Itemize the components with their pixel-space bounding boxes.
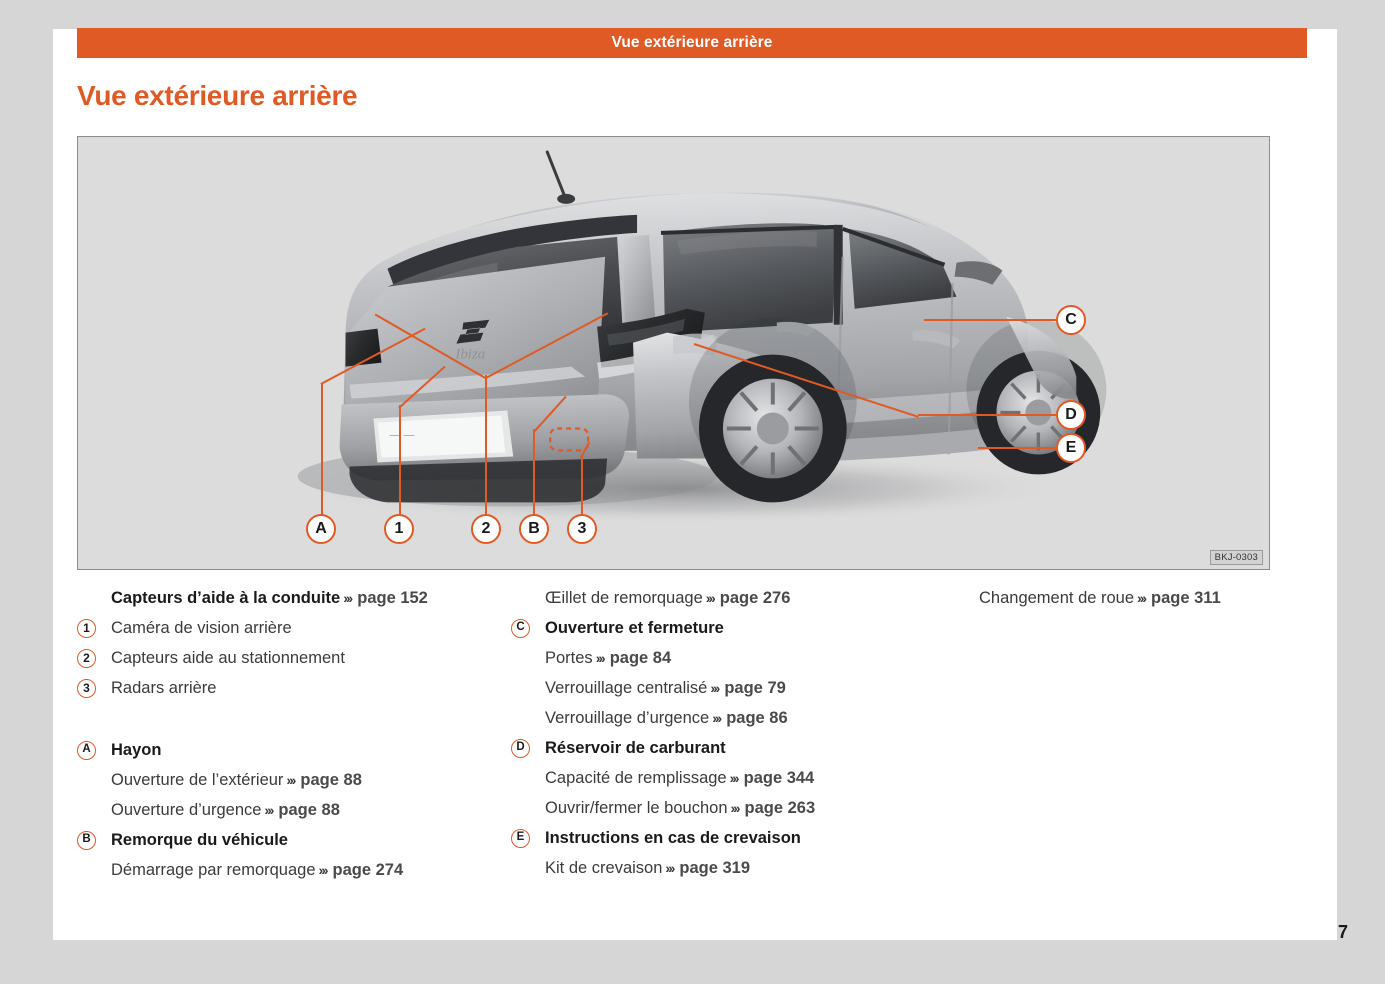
legend-entry-text: Changement de roue›››page 311 <box>979 583 1221 613</box>
legend-marker <box>511 703 545 733</box>
page-folio: 7 <box>1338 922 1348 943</box>
legend-marker <box>945 583 979 613</box>
legend-marker: E <box>511 823 545 853</box>
legend-spacer <box>77 703 511 735</box>
chevron-right-icon: ››› <box>340 590 357 606</box>
legend-badge-2: 2 <box>77 649 96 668</box>
legend-entry-text: Portes›››page 84 <box>545 643 671 673</box>
chevron-right-icon: ››› <box>703 590 720 606</box>
legend-marker: C <box>511 613 545 643</box>
legend-entry-label: Remorque du véhicule <box>111 831 288 849</box>
page-reference-link[interactable]: page 276 <box>720 589 791 607</box>
legend-row: 3Radars arrière <box>77 673 511 703</box>
legend-row: Ouvrir/fermer le bouchon›››page 263 <box>511 793 945 823</box>
legend-entry-text: Capteurs aide au stationnement <box>111 643 345 673</box>
legend-row: AHayon <box>77 735 511 765</box>
legend-entry-text: Verrouillage d’urgence›››page 86 <box>545 703 788 733</box>
legend-row: EInstructions en cas de crevaison <box>511 823 945 853</box>
legend-entry-text: Ouverture de l’extérieur›››page 88 <box>111 765 362 795</box>
legend-entry-label: Ouverture de l’extérieur <box>111 771 283 789</box>
legend-entry-label: Kit de crevaison <box>545 859 662 877</box>
chevron-right-icon: ››› <box>707 680 724 696</box>
chevron-right-icon: ››› <box>727 770 744 786</box>
page-reference-link[interactable]: page 344 <box>744 769 815 787</box>
svg-text:— —: — — <box>389 429 414 441</box>
legend-entry-label: Changement de roue <box>979 589 1134 607</box>
chevron-right-icon: ››› <box>283 772 300 788</box>
legend-row: Capacité de remplissage›››page 344 <box>511 763 945 793</box>
legend-entry-text: Verrouillage centralisé›››page 79 <box>545 673 786 703</box>
legend-marker <box>511 673 545 703</box>
leader-line-1-vertical <box>399 405 401 529</box>
callout-d: D <box>1056 400 1086 430</box>
callout-a: A <box>306 514 336 544</box>
legend-entry-label: Hayon <box>111 741 161 759</box>
legend-entry-label: Capteurs aide au stationnement <box>111 649 345 667</box>
legend-column-2: Œillet de remorquage›››page 276COuvertur… <box>511 583 945 885</box>
legend-entry-text: Hayon <box>111 735 161 765</box>
legend-entry-text: Kit de crevaison›››page 319 <box>545 853 750 883</box>
page-reference-link[interactable]: page 86 <box>726 709 787 727</box>
running-header-bar: Vue extérieure arrière <box>77 28 1307 58</box>
legend-marker: A <box>77 735 111 765</box>
legend-badge-3: 3 <box>77 679 96 698</box>
legend-marker <box>511 793 545 823</box>
page-reference-link[interactable]: page 88 <box>278 801 339 819</box>
legend-row: Ouverture de l’extérieur›››page 88 <box>77 765 511 795</box>
page-reference-link[interactable]: page 274 <box>333 861 404 879</box>
legend-row: 2Capteurs aide au stationnement <box>77 643 511 673</box>
leader-line-d-horizontal <box>918 414 1071 416</box>
legend-badge-e: E <box>511 829 530 848</box>
legend-marker <box>511 643 545 673</box>
legend-column-1: Capteurs d’aide à la conduite›››page 152… <box>77 583 511 885</box>
legend-entry-text: Instructions en cas de crevaison <box>545 823 801 853</box>
legend-marker: D <box>511 733 545 763</box>
legend-row: Œillet de remorquage›››page 276 <box>511 583 945 613</box>
page-reference-link[interactable]: page 263 <box>745 799 816 817</box>
legend-entry-text: Œillet de remorquage›››page 276 <box>545 583 790 613</box>
legend-entry-text: Capacité de remplissage›››page 344 <box>545 763 814 793</box>
legend-entry-label: Verrouillage centralisé <box>545 679 707 697</box>
legend-marker: 1 <box>77 613 111 643</box>
legend-marker: 2 <box>77 643 111 673</box>
legend-entry-label: Œillet de remorquage <box>545 589 703 607</box>
legend-entry-label: Réservoir de carburant <box>545 739 726 757</box>
page-reference-link[interactable]: page 152 <box>357 589 428 607</box>
legend-badge-d: D <box>511 739 530 758</box>
leader-line-2-vertical <box>485 375 487 529</box>
leader-line-a-vertical <box>321 383 323 529</box>
running-header-title: Vue extérieure arrière <box>611 34 772 52</box>
legend-marker <box>77 583 111 613</box>
chevron-right-icon: ››› <box>709 710 726 726</box>
legend-row: Changement de roue›››page 311 <box>945 583 1277 613</box>
legend-entry-text: Remorque du véhicule <box>111 825 288 855</box>
callout-2: 2 <box>471 514 501 544</box>
vehicle-rear-view-figure: Ibiza — — <box>77 136 1270 570</box>
legend-entry-label: Portes <box>545 649 593 667</box>
legend-row: Portes›››page 84 <box>511 643 945 673</box>
legend-entry-text: Réservoir de carburant <box>545 733 726 763</box>
legend-entry-label: Capteurs d’aide à la conduite <box>111 589 340 607</box>
legend-row: COuverture et fermeture <box>511 613 945 643</box>
legend-marker: B <box>77 825 111 855</box>
legend-entry-text: Démarrage par remorquage›››page 274 <box>111 855 403 885</box>
legend-row: Capteurs d’aide à la conduite›››page 152 <box>77 583 511 613</box>
legend-entry-label: Verrouillage d’urgence <box>545 709 709 727</box>
callout-b: B <box>519 514 549 544</box>
legend-badge-a: A <box>77 741 96 760</box>
callout-1: 1 <box>384 514 414 544</box>
legend-entry-label: Ouverture d’urgence <box>111 801 261 819</box>
legend-badge-b: B <box>77 831 96 850</box>
legend-marker <box>511 583 545 613</box>
legend-marker <box>77 795 111 825</box>
legend-entry-text: Radars arrière <box>111 673 216 703</box>
page-reference-link[interactable]: page 79 <box>724 679 785 697</box>
legend-row: BRemorque du véhicule <box>77 825 511 855</box>
legend-badge-c: C <box>511 619 530 638</box>
legend-row: Verrouillage centralisé›››page 79 <box>511 673 945 703</box>
legend: Capteurs d’aide à la conduite›››page 152… <box>77 583 1277 885</box>
legend-entry-label: Caméra de vision arrière <box>111 619 292 637</box>
legend-badge-1: 1 <box>77 619 96 638</box>
callout-e: E <box>1056 433 1086 463</box>
page-reference-link[interactable]: page 88 <box>300 771 361 789</box>
legend-marker: 3 <box>77 673 111 703</box>
chevron-right-icon: ››› <box>316 862 333 878</box>
legend-row: Ouverture d’urgence›››page 88 <box>77 795 511 825</box>
page-reference-link[interactable]: page 311 <box>1151 589 1221 607</box>
legend-marker <box>511 763 545 793</box>
legend-entry-text: Capteurs d’aide à la conduite›››page 152 <box>111 583 428 613</box>
leader-line-c <box>924 319 1071 321</box>
legend-marker <box>77 855 111 885</box>
chevron-right-icon: ››› <box>261 802 278 818</box>
legend-entry-label: Ouverture et fermeture <box>545 619 724 637</box>
chevron-right-icon: ››› <box>593 650 610 666</box>
chevron-right-icon: ››› <box>728 800 745 816</box>
page-reference-link[interactable]: page 84 <box>610 649 671 667</box>
legend-entry-label: Ouvrir/fermer le bouchon <box>545 799 728 817</box>
legend-row: 1Caméra de vision arrière <box>77 613 511 643</box>
page-reference-link[interactable]: page 319 <box>679 859 750 877</box>
legend-entry-label: Capacité de remplissage <box>545 769 727 787</box>
figure-code-label: BKJ-0303 <box>1210 550 1263 565</box>
legend-entry-label: Instructions en cas de crevaison <box>545 829 801 847</box>
legend-row: Démarrage par remorquage›››page 274 <box>77 855 511 885</box>
legend-entry-label: Radars arrière <box>111 679 216 697</box>
legend-marker <box>511 853 545 883</box>
legend-entry-text: Caméra de vision arrière <box>111 613 292 643</box>
legend-marker <box>77 765 111 795</box>
legend-entry-label: Démarrage par remorquage <box>111 861 316 879</box>
legend-entry-text: Ouverture et fermeture <box>545 613 724 643</box>
callout-c: C <box>1056 305 1086 335</box>
page-root: Vue extérieure arrière Vue extérieure ar… <box>0 0 1385 984</box>
legend-entry-text: Ouverture d’urgence›››page 88 <box>111 795 340 825</box>
vehicle-illustration: Ibiza — — <box>78 137 1269 570</box>
callout-3: 3 <box>567 514 597 544</box>
chevron-right-icon: ››› <box>662 860 679 876</box>
chevron-right-icon: ››› <box>1134 590 1151 606</box>
legend-row: Kit de crevaison›››page 319 <box>511 853 945 883</box>
legend-entry-text: Ouvrir/fermer le bouchon›››page 263 <box>545 793 815 823</box>
legend-row: DRéservoir de carburant <box>511 733 945 763</box>
page-title: Vue extérieure arrière <box>77 80 357 112</box>
legend-column-3: Changement de roue›››page 311 <box>945 583 1277 885</box>
legend-row: Verrouillage d’urgence›››page 86 <box>511 703 945 733</box>
